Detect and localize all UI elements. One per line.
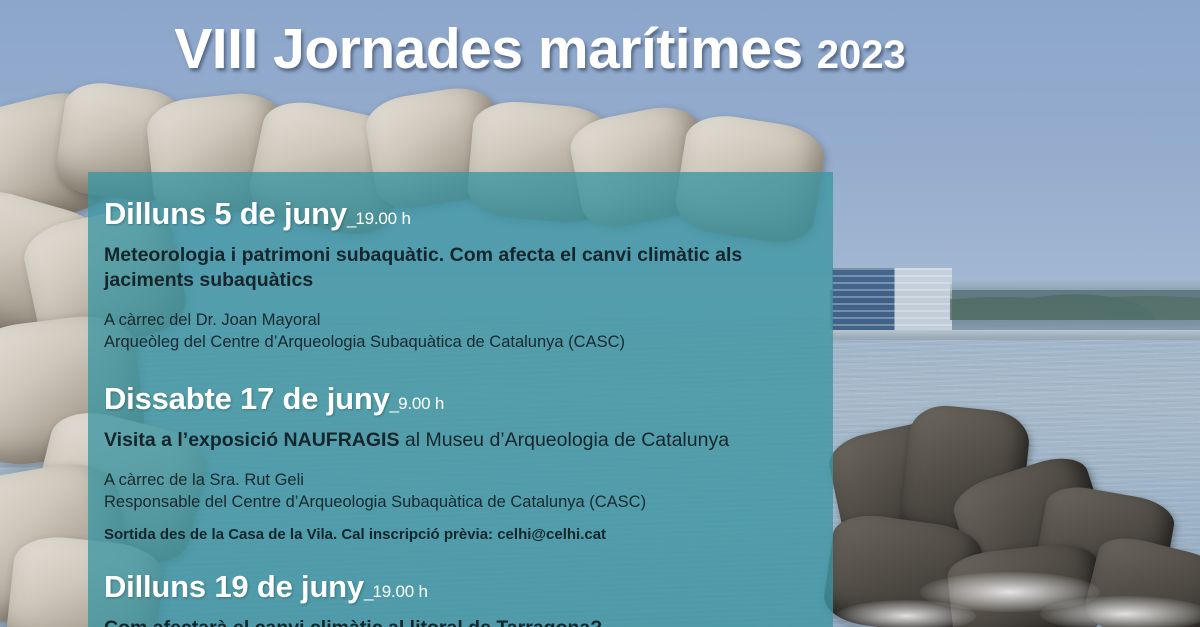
poster-canvas: VIII Jornades marítimes2023 Dilluns 5 de…	[0, 0, 1200, 627]
event-speaker: A càrrec del Dr. Joan Mayoral	[104, 309, 817, 331]
distant-treeline	[950, 280, 1200, 320]
event-registration-note: Sortida des de la Casa de la Vila. Cal i…	[104, 526, 817, 543]
event-time-label: _19.00 h	[347, 209, 411, 228]
event-day-label: Dissabte 17 de juny	[104, 381, 390, 416]
event-title: Com afectarà el canvi climàtic al litora…	[104, 616, 817, 627]
event-speaker-role: Responsable del Centre d’Arqueologia Sub…	[104, 491, 817, 513]
title-main-text: VIII Jornades marítimes	[174, 17, 802, 81]
event-heading: Dissabte 17 de juny_9.00 h	[104, 383, 817, 414]
event-item: Dilluns 5 de juny_19.00 h Meteorologia i…	[88, 198, 833, 353]
title-year-text: 2023	[817, 33, 906, 77]
event-speaker-role: Arqueòleg del Centre d’Arqueologia Subaq…	[104, 331, 817, 353]
event-item: Dissabte 17 de juny_9.00 h Visita a l’ex…	[88, 383, 833, 543]
event-speaker: A càrrec de la Sra. Rut Geli	[104, 469, 817, 491]
event-heading: Dilluns 5 de juny_19.00 h	[104, 198, 817, 229]
event-title: Visita a l’exposició NAUFRAGIS al Museu …	[104, 428, 817, 453]
event-time-label: _9.00 h	[390, 394, 445, 413]
distant-buildings	[832, 268, 952, 330]
distant-promenade	[830, 330, 1200, 340]
event-time-label: _19.00 h	[364, 582, 428, 601]
event-heading: Dilluns 19 de juny_19.00 h	[104, 571, 817, 602]
programme-panel: Dilluns 5 de juny_19.00 h Meteorologia i…	[88, 172, 833, 627]
poster-title: VIII Jornades marítimes2023	[0, 16, 1080, 82]
event-title: Meteorologia i patrimoni subaquàtic. Com…	[104, 243, 817, 293]
event-day-label: Dilluns 19 de juny	[104, 569, 364, 604]
event-day-label: Dilluns 5 de juny	[104, 196, 347, 231]
event-item: Dilluns 19 de juny_19.00 h Com afectarà …	[88, 571, 833, 627]
